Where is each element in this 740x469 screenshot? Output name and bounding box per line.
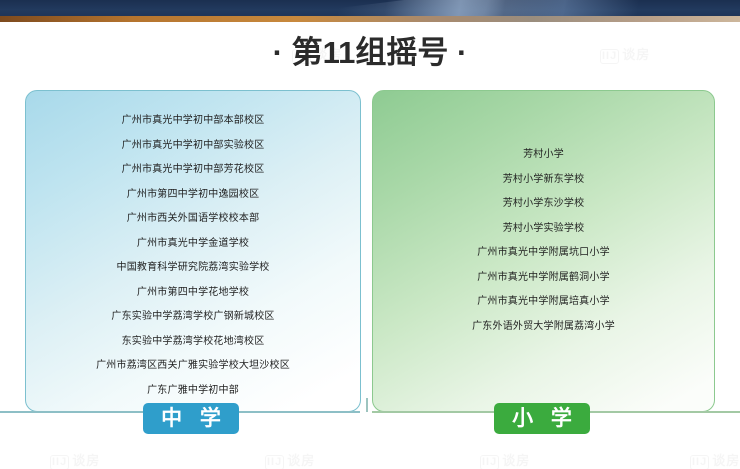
connector-center-tick [366, 398, 368, 412]
middle-school-item: 广东实验中学荔湾学校广钢新城校区 [32, 305, 354, 330]
watermark-label: 谈房 [72, 453, 100, 468]
primary-school-panel: 芳村小学芳村小学新东学校芳村小学东沙学校芳村小学实验学校广州市真光中学附属坑口小… [372, 90, 715, 412]
middle-school-item: 广东广雅中学初中部 [32, 379, 354, 404]
watermark-label: 谈房 [712, 453, 740, 468]
primary-school-item: 芳村小学 [379, 143, 708, 168]
watermark-badge-icon: IIJ [690, 455, 709, 469]
watermark-badge-icon: IIJ [50, 455, 69, 469]
middle-school-panel: 广州市真光中学初中部本部校区广州市真光中学初中部实验校区广州市真光中学初中部芳花… [25, 90, 361, 412]
primary-school-item: 芳村小学实验学校 [379, 217, 708, 242]
badge-middle-school[interactable]: 中 学 [143, 403, 239, 434]
middle-school-item: 广州市第四中学初中逸园校区 [32, 183, 354, 208]
banner-accent-strip [0, 16, 740, 22]
middle-school-item: 东实验中学荔湾学校花地湾校区 [32, 330, 354, 355]
middle-school-item: 广州市西关外国语学校校本部 [32, 207, 354, 232]
watermark-label: 谈房 [502, 453, 530, 468]
watermark: IIJ谈房 [50, 450, 100, 469]
poster-root: · 第11组摇号 · IIJ谈房 IIJ谈房 IIJ谈房 IIJ谈房 IIJ谈房… [0, 0, 740, 469]
middle-school-item: 广州市真光中学初中部本部校区 [32, 109, 354, 134]
middle-school-item: 广州市真光中学初中部实验校区 [32, 134, 354, 159]
primary-school-item: 芳村小学新东学校 [379, 168, 708, 193]
watermark: IIJ谈房 [480, 450, 530, 469]
watermark: IIJ谈房 [690, 450, 740, 469]
middle-school-item: 广州市真光中学金道学校 [32, 232, 354, 257]
badge-primary-school[interactable]: 小 学 [494, 403, 590, 434]
middle-school-item: 广州市真光中学初中部芳花校区 [32, 158, 354, 183]
primary-school-item: 芳村小学东沙学校 [379, 192, 708, 217]
primary-school-item: 广州市真光中学附属鹤洞小学 [379, 266, 708, 291]
panel-connector-line [0, 411, 740, 413]
primary-school-item: 广州市真光中学附属坑口小学 [379, 241, 708, 266]
watermark-label: 谈房 [287, 453, 315, 468]
middle-school-item: 广州市第四中学花地学校 [32, 281, 354, 306]
top-banner [0, 0, 740, 22]
primary-school-list: 芳村小学芳村小学新东学校芳村小学东沙学校芳村小学实验学校广州市真光中学附属坑口小… [373, 143, 714, 339]
page-title-row: · 第11组摇号 · [0, 33, 740, 73]
middle-school-item: 广州市荔湾区西关广雅实验学校大坦沙校区 [32, 354, 354, 379]
primary-school-item: 广州市真光中学附属培真小学 [379, 290, 708, 315]
page-title: · 第11组摇号 · [273, 33, 468, 73]
watermark-badge-icon: IIJ [480, 455, 499, 469]
middle-school-item: 中国教育科学研究院荔湾实验学校 [32, 256, 354, 281]
middle-school-list: 广州市真光中学初中部本部校区广州市真光中学初中部实验校区广州市真光中学初中部芳花… [26, 109, 360, 403]
watermark-badge-icon: IIJ [265, 455, 284, 469]
watermark: IIJ谈房 [265, 450, 315, 469]
primary-school-item: 广东外语外贸大学附属荔湾小学 [379, 315, 708, 340]
